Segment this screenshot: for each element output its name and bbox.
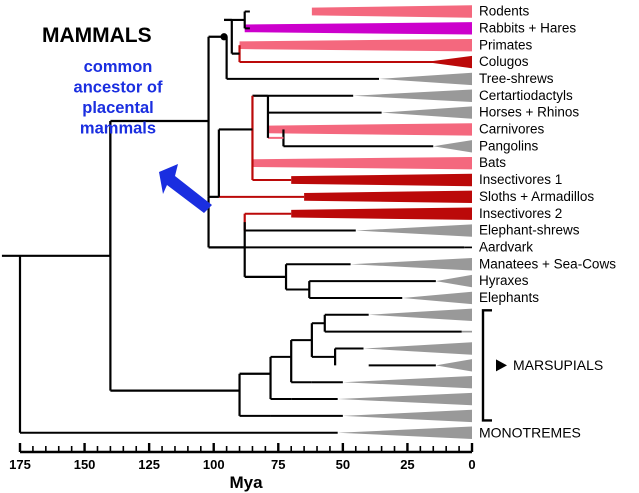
time-axis: 1751501251007550250Mya <box>9 443 475 492</box>
tip-label-tip-primates: Primates <box>479 37 533 52</box>
internal-node-markers <box>220 33 227 40</box>
tip-label-tip-bats: Bats <box>479 155 506 170</box>
tip-label-tip-aardvark: Aardvark <box>479 239 533 254</box>
tip-label-tip-colugos: Colugos <box>479 54 529 69</box>
tip-label-tip-elephants: Elephants <box>479 290 539 305</box>
wedge-tip-sloths-armadillos <box>304 191 472 203</box>
phylogenetic-tree-figure: RodentsRabbits + HaresPrimatesColugosTre… <box>0 0 639 493</box>
wedge-tip-insectivores-2 <box>291 208 472 220</box>
tip-label-tip-pangolins: Pangolins <box>479 138 539 153</box>
annotation-line-2: ancestor of <box>74 79 163 97</box>
wedge-tip-row-24 <box>343 410 472 422</box>
wedge-tip-row-25 <box>338 427 472 439</box>
node-marker-euarchontoglires-dot <box>220 33 227 40</box>
tree-canvas: RodentsRabbits + HaresPrimatesColugosTre… <box>0 0 639 493</box>
axis-tick-label-125: 125 <box>138 457 160 472</box>
group-label-marsupials: MARSUPIALS <box>513 357 603 373</box>
wedge-tip-row-20 <box>364 342 472 354</box>
wedge-tip-insectivores-1 <box>291 174 472 186</box>
clade-wedges-layer <box>240 5 472 439</box>
group-labels-layer: MARSUPIALSMONOTREMES <box>479 310 603 440</box>
annotation-line-3: placental <box>82 99 154 117</box>
axis-tick-label-150: 150 <box>74 457 96 472</box>
wedge-tip-row-21 <box>436 359 472 371</box>
wedge-tip-elephant-shrews <box>356 224 472 236</box>
wedge-tip-rodents <box>312 5 472 17</box>
axis-tick-label-175: 175 <box>9 457 31 472</box>
wedge-tip-elephants <box>402 292 472 304</box>
tip-label-tip-carnivores: Carnivores <box>479 122 545 137</box>
figure-title: MAMMALS <box>42 24 152 47</box>
wedge-tip-rabbits-hares <box>245 22 472 34</box>
tip-label-tip-certartiodactyls: Certartiodactyls <box>479 88 573 103</box>
tip-label-tip-tree-shrews: Tree-shrews <box>479 71 554 86</box>
wedge-tip-certartiodactyls <box>353 90 472 102</box>
wedge-tip-primates <box>240 39 472 51</box>
axis-title: Mya <box>229 473 263 492</box>
marsupials-bracket <box>483 310 492 420</box>
branch-lines-layer <box>2 12 472 433</box>
tip-label-tip-rodents: Rodents <box>479 4 530 19</box>
marsupials-arrow-icon <box>496 359 507 371</box>
wedge-tip-hyraxes <box>436 275 472 287</box>
axis-tick-label-50: 50 <box>336 457 350 472</box>
tip-label-tip-rabbits-hares: Rabbits + Hares <box>479 20 576 35</box>
tip-label-tip-manatees-sea-cows: Manatees + Sea-Cows <box>479 256 616 271</box>
axis-tick-label-75: 75 <box>271 457 285 472</box>
axis-tick-label-100: 100 <box>203 457 225 472</box>
axis-tick-label-25: 25 <box>400 457 414 472</box>
wedge-tip-row-22 <box>343 376 472 388</box>
common-ancestor-annotation: commonancestor ofplacentalmammals <box>74 58 212 213</box>
wedge-tip-horses-rhinos <box>382 106 472 118</box>
tip-label-tip-insectivores-2: Insectivores 2 <box>479 206 562 221</box>
wedge-tip-row-18 <box>369 309 472 321</box>
group-label-monotremes: MONOTREMES <box>479 424 581 440</box>
tip-label-tip-horses-rhinos: Horses + Rhinos <box>479 105 579 120</box>
blue-arrow-pointing-to-placental-ancestor <box>159 164 212 213</box>
annotation-line-4: mammals <box>80 120 156 138</box>
tip-label-tip-elephant-shrews: Elephant-shrews <box>479 223 580 238</box>
wedge-tip-pangolins <box>433 140 472 152</box>
annotation-line-1: common <box>84 58 153 76</box>
wedge-tip-manatees-sea-cows <box>351 258 472 270</box>
tip-label-tip-hyraxes: Hyraxes <box>479 273 529 288</box>
wedge-tip-row-23 <box>338 393 472 405</box>
axis-tick-label-0: 0 <box>468 457 475 472</box>
tip-label-tip-sloths-armadillos: Sloths + Armadillos <box>479 189 594 204</box>
tip-labels-layer: RodentsRabbits + HaresPrimatesColugosTre… <box>479 4 616 305</box>
wedge-tip-tree-shrews <box>379 73 472 85</box>
tip-label-tip-insectivores-1: Insectivores 1 <box>479 172 562 187</box>
